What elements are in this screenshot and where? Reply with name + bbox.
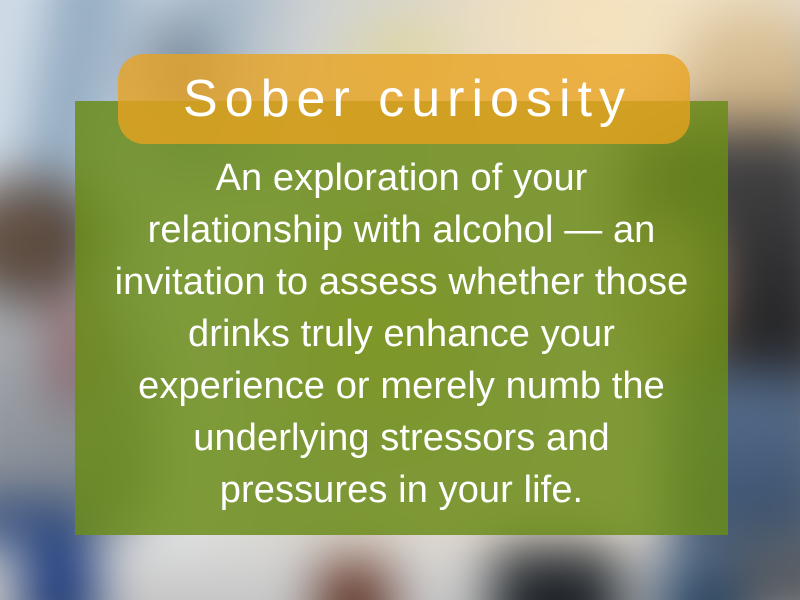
- poster-canvas: An exploration of your relationship with…: [0, 0, 800, 600]
- body-line: drinks truly enhance your: [75, 308, 728, 360]
- body-line: experience or merely numb the: [75, 360, 728, 412]
- title-banner: Sober curiosity: [118, 54, 690, 144]
- background-leg-jeans: [23, 545, 97, 600]
- body-line: relationship with alcohol — an: [75, 204, 728, 256]
- background-leg-dark: [492, 545, 621, 600]
- body-line: An exploration of your: [75, 152, 728, 204]
- background-table-right: [731, 530, 800, 600]
- poster-title: Sober curiosity: [176, 73, 632, 125]
- background-leg-brown-shoe: [317, 559, 391, 600]
- body-line: pressures in your life.: [75, 464, 728, 516]
- body-line: invitation to assess whether those: [75, 256, 728, 308]
- body-line: underlying stressors and: [75, 412, 728, 464]
- poster-body-text: An exploration of your relationship with…: [75, 152, 728, 516]
